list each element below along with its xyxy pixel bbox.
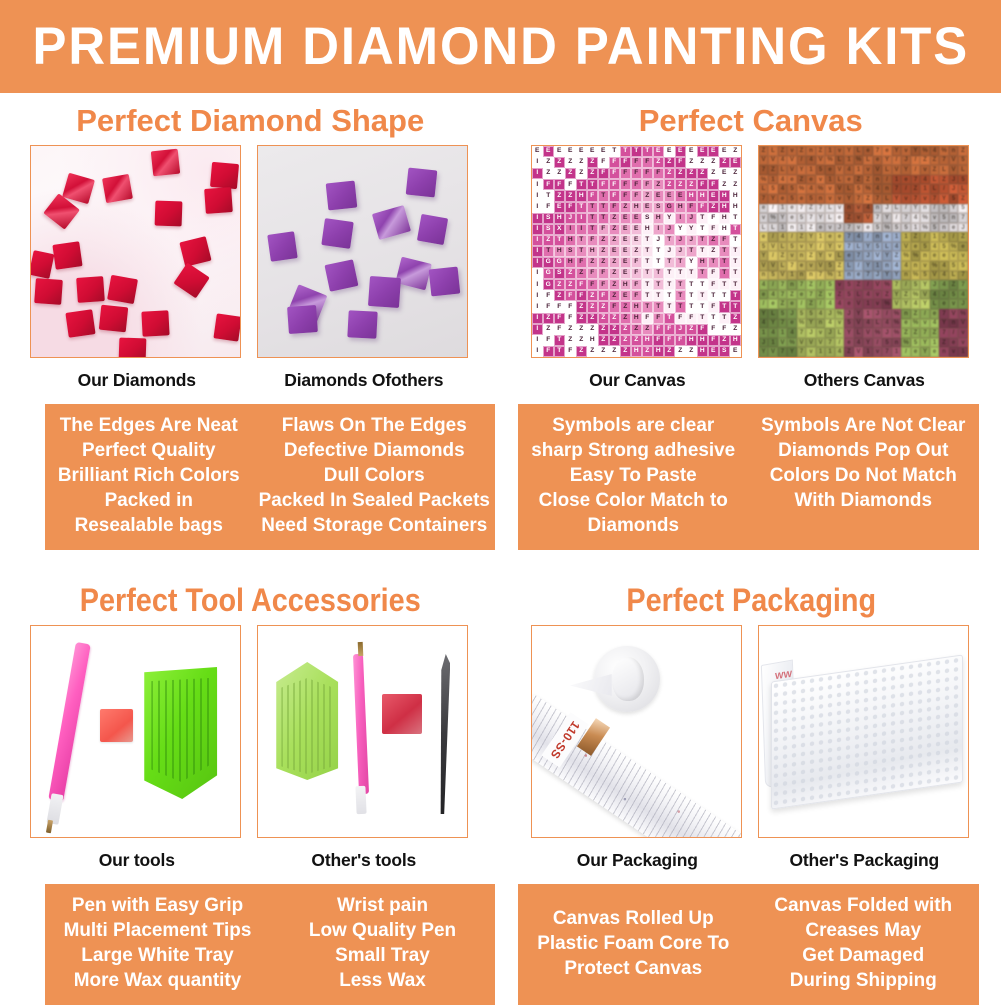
textcol-other-packaging: Canvas Folded with Creases May Get Damag… — [751, 884, 975, 1005]
tube-texture — [531, 694, 742, 838]
text-line: Large White Tray — [50, 943, 264, 968]
image-frame-other-packaging: WW — [758, 625, 969, 838]
low-quality-pen-grip — [356, 786, 367, 814]
rolled-canvas-tube-photo: 110-SS — [532, 626, 741, 837]
text-line: Low Quality Pen — [275, 918, 489, 943]
text-line: Perfect Quality — [50, 438, 247, 463]
section-tool-accessories: Perfect Tool Accessories — [0, 572, 501, 1005]
pink-wax-square — [100, 709, 133, 742]
image-frame-other-diamonds — [257, 145, 468, 358]
page-header-banner: PREMIUM DIAMOND PAINTING KITS — [0, 0, 1001, 93]
text-line: Colors Do Not Match — [753, 463, 973, 488]
text-line: Packed In Sealed Packets — [258, 488, 489, 513]
image-frame-our-diamonds — [30, 145, 241, 358]
text-line: Packed in — [50, 488, 247, 513]
caption-other-packaging: Other's Packaging — [758, 850, 971, 871]
image-frame-our-canvas: EEEEEEETTTTEEEEEEEZIZZZZZFFFFFZZFZZZZEIZ… — [531, 145, 742, 358]
image-frame-others-canvas: ZLZvZnZ1vYLe7eYvY%4%nZVV4V/4V%L1%LeY/J/Z… — [758, 145, 969, 358]
symbol-grid: EEEEEEETTTTEEEEEEEZIZZZZZFFFFFZZFZZZZEIZ… — [532, 146, 741, 357]
text-line: Resealable bags — [50, 513, 247, 538]
caption-others-canvas: Others Canvas — [758, 370, 971, 391]
textcol-our-tools: Pen with Easy Grip Multi Placement Tips … — [48, 884, 266, 1005]
text-line: Less Wax — [275, 968, 489, 993]
comparison-grid: Perfect Diamond Shape — [0, 93, 1001, 1005]
cell-our-packaging: 110-SS Our Packaging — [531, 625, 744, 871]
textcol-other-tools: Wrist pain Low Quality Pen Small Tray Le… — [273, 884, 491, 1005]
text-line: Defective Diamonds — [258, 438, 489, 463]
cell-others-canvas: ZLZvZnZ1vYLe7eYvY%4%nZVV4V/4V%L1%LeY/J/Z… — [758, 145, 971, 391]
cell-our-diamonds: Our Diamonds — [30, 145, 243, 391]
page-title: PREMIUM DIAMOND PAINTING KITS — [32, 16, 969, 77]
small-tray-grooves — [281, 678, 333, 774]
section-title-canvas: Perfect Canvas — [501, 103, 1001, 139]
infographic-page: PREMIUM DIAMOND PAINTING KITS Perfect Di… — [0, 0, 1001, 1001]
bubble-mailer-body — [771, 655, 963, 810]
cell-other-packaging: WW Other's Packaging — [758, 625, 971, 871]
image-pair-packaging: 110-SS Our Packaging — [501, 625, 1001, 871]
caption-our-tools: Our tools — [30, 850, 243, 871]
tube-cap-tail — [570, 674, 612, 696]
cell-our-tools: Our tools — [30, 625, 243, 871]
text-line: Close Color Match to — [523, 488, 743, 513]
text-line: sharp Strong adhesive — [523, 438, 743, 463]
text-line: During Shipping — [753, 968, 973, 993]
section-title-tool-accessories: Perfect Tool Accessories — [25, 582, 475, 619]
textbox-packaging: Canvas Rolled Up Plastic Foam Core To Pr… — [518, 884, 979, 1005]
text-line: Protect Canvas — [523, 956, 743, 981]
text-line: Plastic Foam Core To — [523, 931, 743, 956]
text-line: Creases May — [753, 918, 973, 943]
blurry-symbol-grid: ZLZvZnZ1vYLe7eYvY%4%nZVV4V/4V%L1%LeY/J/Z… — [759, 146, 968, 357]
image-frame-our-packaging: 110-SS — [531, 625, 742, 838]
text-line: Symbols are clear — [523, 413, 743, 438]
text-line: Small Tray — [275, 943, 489, 968]
textcol-other-diamonds: Flaws On The Edges Defective Diamonds Du… — [256, 404, 491, 550]
textbox-tool-accessories: Pen with Easy Grip Multi Placement Tips … — [45, 884, 495, 1005]
section-diamond-shape: Perfect Diamond Shape — [0, 93, 501, 550]
section-title-packaging: Perfect Packaging — [526, 582, 976, 619]
cell-other-diamonds: Diamonds Ofothers — [257, 145, 470, 391]
textbox-canvas: Symbols are clear sharp Strong adhesive … — [518, 404, 979, 550]
text-line: Canvas Folded with — [753, 893, 973, 918]
textbox-diamond-shape: The Edges Are Neat Perfect Quality Brill… — [45, 404, 495, 550]
tweezers — [434, 654, 450, 814]
textcol-our-canvas: Symbols are clear sharp Strong adhesive … — [521, 404, 745, 550]
image-pair-canvas: EEEEEEETTTTEEEEEEEZIZZZZZFFFFFZZFZZZZEIZ… — [501, 145, 1001, 391]
textcol-our-diamonds: The Edges Are Neat Perfect Quality Brill… — [48, 404, 249, 550]
text-line: Pen with Easy Grip — [50, 893, 264, 918]
text-line: Flaws On The Edges — [258, 413, 489, 438]
grid-row-bottom: Perfect Tool Accessories — [0, 572, 1001, 1005]
cell-other-tools: Other's tools — [257, 625, 470, 871]
image-frame-other-tools — [257, 625, 468, 838]
low-quality-pink-pen — [353, 654, 369, 794]
low-quality-pen-needle — [358, 642, 364, 656]
text-line: Easy To Paste — [523, 463, 743, 488]
text-line: Multi Placement Tips — [50, 918, 264, 943]
pink-pen-green-tray-photo — [31, 626, 240, 837]
image-pair-tools: Our tools — [0, 625, 501, 871]
textcol-others-canvas: Symbols Are Not Clear Diamonds Pop Out C… — [751, 404, 975, 550]
section-title-diamond-shape: Perfect Diamond Shape — [0, 103, 501, 139]
caption-other-diamonds: Diamonds Ofothers — [257, 370, 470, 391]
purple-square-diamonds-photo — [258, 146, 467, 357]
pen-needle-tip — [46, 820, 53, 834]
section-packaging: Perfect Packaging — [501, 572, 1001, 1005]
pink-pen — [48, 642, 91, 802]
cell-our-canvas: EEEEEEETTTTEEEEEEEZIZZZZZFFFFFZZFZZZZEIZ… — [531, 145, 744, 391]
section-canvas: Perfect Canvas EEEEEEETTTTEEEEEEEZIZZZZZ… — [501, 93, 1001, 550]
image-frame-our-tools — [30, 625, 241, 838]
text-line: Diamonds Pop Out — [753, 438, 973, 463]
text-line: Wrist pain — [275, 893, 489, 918]
caption-our-canvas: Our Canvas — [531, 370, 744, 391]
textcol-our-packaging: Canvas Rolled Up Plastic Foam Core To Pr… — [521, 884, 745, 1005]
text-line: More Wax quantity — [50, 968, 264, 993]
text-line: Get Damaged — [753, 943, 973, 968]
green-tray-pen-tweezers-photo — [258, 626, 467, 837]
text-line: The Edges Are Neat — [50, 413, 247, 438]
text-line: Canvas Rolled Up — [523, 906, 743, 931]
text-line: Brilliant Rich Colors — [50, 463, 247, 488]
red-wax-square — [382, 694, 422, 734]
red-square-diamonds-photo — [31, 146, 240, 357]
grid-row-top: Perfect Diamond Shape — [0, 93, 1001, 550]
text-line: Diamonds — [523, 513, 743, 538]
text-line: Symbols Are Not Clear — [753, 413, 973, 438]
text-line: Need Storage Containers — [258, 513, 489, 538]
caption-other-tools: Other's tools — [257, 850, 470, 871]
tube-cap-inner — [612, 657, 644, 701]
caption-our-packaging: Our Packaging — [531, 850, 744, 871]
text-line: With Diamonds — [753, 488, 973, 513]
bubble-mailer-envelope-photo: WW — [759, 626, 968, 837]
blurry-color-canvas-photo: ZLZvZnZ1vYLe7eYvY%4%nZVV4V/4V%L1%LeY/J/Z… — [759, 146, 968, 357]
pink-symbol-canvas-photo: EEEEEEETTTTEEEEEEEZIZZZZZFFFFFZZFZZZZEIZ… — [532, 146, 741, 357]
caption-our-diamonds: Our Diamonds — [30, 370, 243, 391]
text-line: Dull Colors — [258, 463, 489, 488]
tray-grooves — [151, 678, 209, 782]
image-pair-diamond-shape: Our Diamonds — [0, 145, 501, 391]
